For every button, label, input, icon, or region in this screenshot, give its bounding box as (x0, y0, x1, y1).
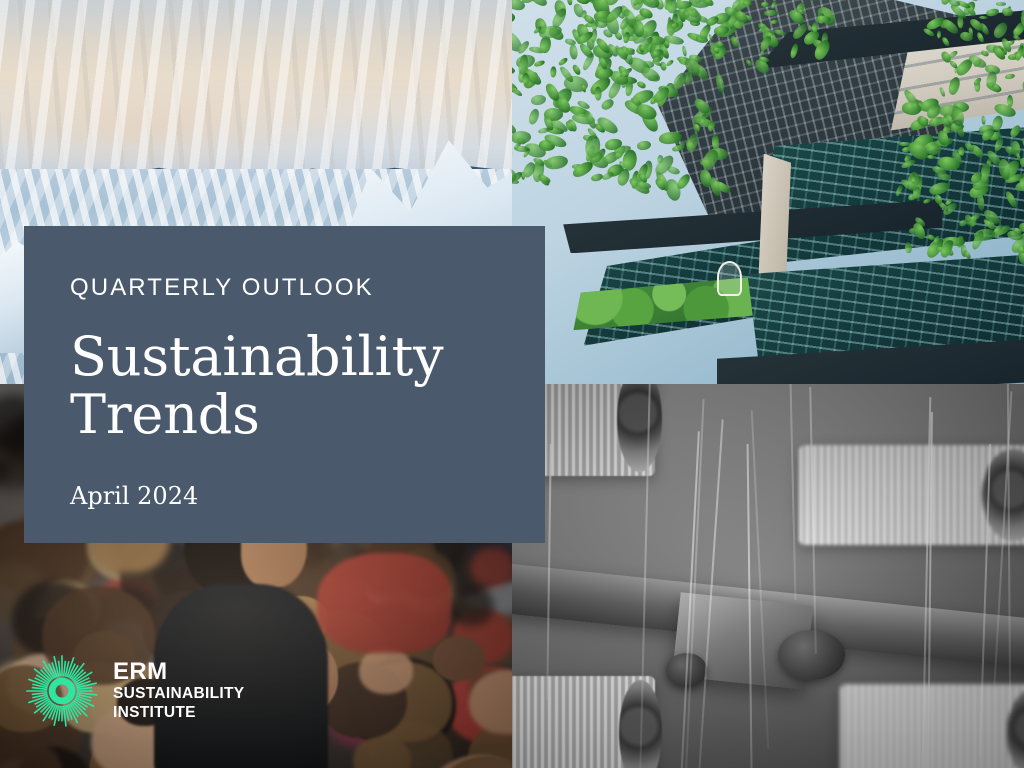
photo-green-building (512, 0, 1024, 384)
brand-wordmark: ERM SUSTAINABILITY INSTITUTE (113, 660, 244, 722)
brand-logo: ERM SUSTAINABILITY INSTITUTE (24, 651, 234, 731)
arctic-sky (0, 0, 512, 180)
erm-sunburst-icon (24, 653, 100, 729)
photo-textile-machinery (512, 384, 1024, 768)
brand-unit-line-2: INSTITUTE (113, 703, 244, 722)
report-cover: QUARTERLY OUTLOOK Sustainability Trends … (0, 0, 1024, 768)
brand-unit-line-1: SUSTAINABILITY (113, 684, 244, 703)
publication-date: April 2024 (70, 484, 499, 508)
hanging-lantern (717, 261, 743, 296)
machinery-scene (512, 384, 1024, 768)
cover-text-panel: QUARTERLY OUTLOOK Sustainability Trends … (24, 226, 545, 543)
eyebrow-label: QUARTERLY OUTLOOK (70, 276, 499, 300)
brand-name: ERM (113, 660, 244, 684)
page-title: Sustainability Trends (70, 328, 499, 444)
